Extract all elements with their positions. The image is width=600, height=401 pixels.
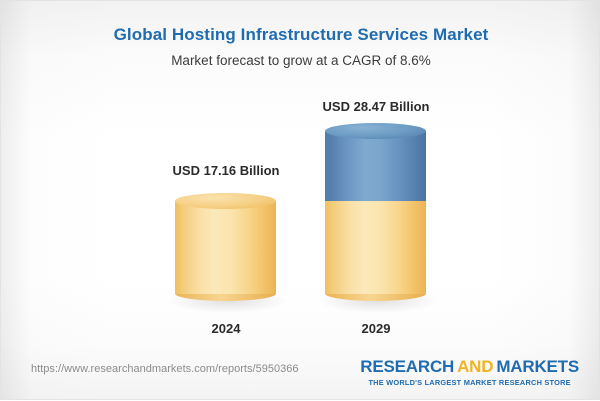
bar-2024[interactable]	[175, 193, 276, 301]
bar-2029-top-ellipse	[325, 123, 426, 139]
logo-word-research: RESEARCH	[360, 357, 454, 376]
logo-word-markets: MARKETS	[496, 357, 579, 376]
logo-word-and: AND	[457, 357, 493, 376]
research-and-markets-logo[interactable]: RESEARCHANDMARKETS THE WORLD'S LARGEST M…	[360, 357, 579, 388]
chart-canvas: Global Hosting Infrastructure Services M…	[0, 0, 600, 400]
logo-wordmark: RESEARCHANDMARKETS	[360, 357, 579, 377]
logo-tagline: THE WORLD'S LARGEST MARKET RESEARCH STOR…	[360, 378, 579, 388]
footer: https://www.researchandmarkets.com/repor…	[1, 351, 600, 399]
bar-2029-segment-base	[325, 201, 426, 294]
bar-2029-segment-growth	[325, 131, 426, 201]
report-url[interactable]: https://www.researchandmarkets.com/repor…	[31, 363, 299, 375]
bar-2024-top-ellipse	[175, 193, 276, 209]
chart-plot-area: USD 17.16 Billion 2024 USD 28.47 Billion	[1, 1, 600, 401]
category-label-2029: 2029	[276, 321, 476, 336]
data-label-2029: USD 28.47 Billion	[276, 99, 476, 114]
bar-2029[interactable]	[325, 123, 426, 301]
data-label-2024: USD 17.16 Billion	[126, 163, 326, 178]
bar-2024-body	[175, 201, 276, 294]
